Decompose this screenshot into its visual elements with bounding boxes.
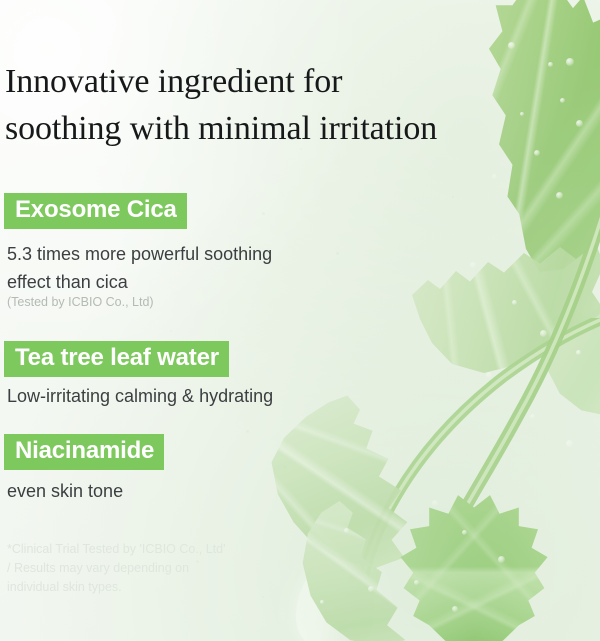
banner-content: Innovative ingredient for soothing with …	[0, 0, 600, 641]
clinical-trial-disclaimer: *Clinical Trial Tested by 'ICBIO Co., Lt…	[7, 540, 226, 597]
page-title-line-1: Innovative ingredient for	[5, 58, 565, 105]
ingredient-description-exosome-cica: 5.3 times more powerful soothing effect …	[7, 240, 272, 296]
product-ingredient-banner: Innovative ingredient for soothing with …	[0, 0, 600, 641]
ingredient-note-exosome-cica: (Tested by ICBIO Co., Ltd)	[7, 293, 154, 311]
ingredient-badge-niacinamide: Niacinamide	[4, 434, 164, 470]
page-title: Innovative ingredient for soothing with …	[5, 58, 565, 152]
page-title-line-2: soothing with minimal irritation	[5, 105, 565, 152]
ingredient-description-niacinamide: even skin tone	[7, 477, 123, 505]
ingredient-description-tea-tree-leaf-water: Low-irritating calming & hydrating	[7, 382, 273, 410]
ingredient-badge-tea-tree-leaf-water: Tea tree leaf water	[4, 341, 229, 377]
ingredient-badge-exosome-cica: Exosome Cica	[4, 193, 187, 229]
